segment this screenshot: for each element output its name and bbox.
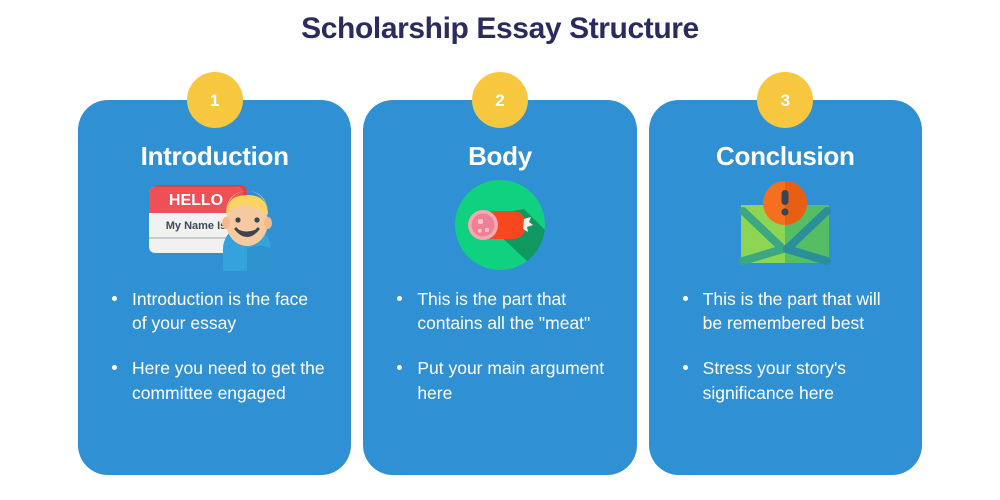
card-introduction[interactable]: 1 Introduction HELLO My Name Is: [78, 100, 351, 475]
cards-container: 1 Introduction HELLO My Name Is: [78, 100, 922, 475]
hello-name-tag-icon: HELLO My Name Is: [145, 177, 285, 273]
salami-meat-icon: [450, 177, 550, 273]
list-item: This is the part that will be remembered…: [681, 287, 896, 337]
list-item: This is the part that contains all the "…: [395, 287, 610, 337]
bullet-list-introduction: Introduction is the face of your essay H…: [100, 287, 329, 406]
card-title-conclusion: Conclusion: [716, 142, 855, 171]
card-title-body: Body: [468, 142, 532, 171]
svg-text:HELLO: HELLO: [169, 192, 223, 209]
bullet-list-body: This is the part that contains all the "…: [385, 287, 614, 406]
step-badge-2: 2: [472, 72, 528, 128]
card-conclusion[interactable]: 3 Conclusion This is the part that wi: [649, 100, 922, 475]
list-item: Stress your story's significance here: [681, 356, 896, 406]
envelope-alert-icon: [731, 177, 839, 273]
card-title-introduction: Introduction: [141, 142, 289, 171]
card-body[interactable]: 2 Body: [363, 100, 636, 475]
list-item: Put your main argument here: [395, 356, 610, 406]
page-title: Scholarship Essay Structure: [0, 12, 1000, 46]
infographic-page: Scholarship Essay Structure 1 Introducti…: [0, 0, 1000, 500]
list-item: Introduction is the face of your essay: [110, 287, 325, 337]
svg-text:My Name Is: My Name Is: [165, 220, 226, 232]
step-badge-3: 3: [757, 72, 813, 128]
list-item: Here you need to get the committee engag…: [110, 356, 325, 406]
bullet-list-conclusion: This is the part that will be remembered…: [671, 287, 900, 406]
step-badge-1: 1: [187, 72, 243, 128]
